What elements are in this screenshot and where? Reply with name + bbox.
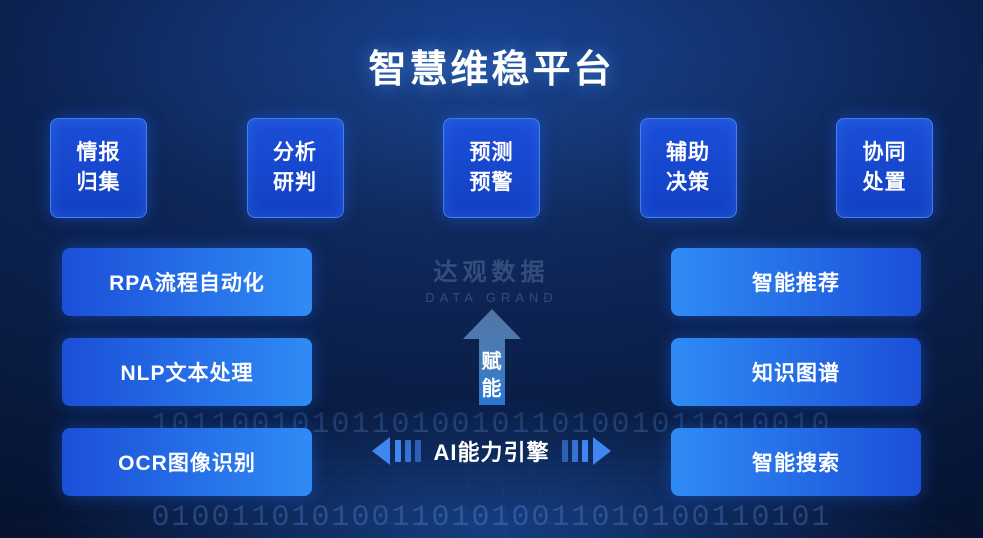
card-line-1: 协同 [863, 138, 907, 168]
card-line-1: 情报 [77, 138, 121, 168]
card-line-2: 研判 [273, 168, 317, 198]
empowerment-arrow: 赋 能 [455, 309, 529, 405]
capability-card-prediction-warning[interactable]: 预测 预警 [443, 118, 540, 218]
left-technology-column: RPA流程自动化 NLP文本处理 OCR图像识别 [62, 248, 312, 496]
ai-engine-row: AI能力引擎 [342, 435, 642, 467]
watermark-en: DATA GRAND [425, 290, 558, 305]
watermark: 达观数据 DATA GRAND [425, 252, 558, 305]
tech-pill-rpa[interactable]: RPA流程自动化 [62, 248, 312, 316]
arrow-right-icon [560, 437, 611, 465]
card-line-2: 归集 [77, 168, 121, 198]
capability-card-assisted-decision[interactable]: 辅助 决策 [640, 118, 737, 218]
capability-card-coordinated-disposal[interactable]: 协同 处置 [836, 118, 933, 218]
ai-engine-label: AI能力引擎 [423, 435, 559, 467]
app-pill-smart-recommendation[interactable]: 智能推荐 [671, 248, 921, 316]
card-line-1: 预测 [470, 138, 514, 168]
arrow-label-line-2: 能 [482, 376, 502, 403]
card-line-2: 处置 [863, 168, 907, 198]
arrow-label-line-1: 赋 [482, 349, 502, 376]
right-application-column: 智能推荐 知识图谱 智能搜索 [671, 248, 921, 496]
page-title: 智慧维稳平台 [0, 38, 983, 93]
arrow-left-icon [372, 437, 423, 465]
card-line-1: 辅助 [666, 138, 710, 168]
card-line-2: 决策 [666, 168, 710, 198]
tech-pill-nlp[interactable]: NLP文本处理 [62, 338, 312, 406]
app-pill-knowledge-graph[interactable]: 知识图谱 [671, 338, 921, 406]
tech-pill-ocr[interactable]: OCR图像识别 [62, 428, 312, 496]
app-pill-smart-search[interactable]: 智能搜索 [671, 428, 921, 496]
arrow-label: 赋 能 [482, 349, 502, 405]
center-engine-block: 达观数据 DATA GRAND 赋 能 [362, 248, 622, 467]
card-line-2: 预警 [470, 168, 514, 198]
capability-card-row: 情报 归集 分析 研判 预测 预警 辅助 决策 协同 处置 [50, 118, 933, 218]
infographic-canvas: 1011001010110100101101001011010010 01001… [0, 0, 983, 538]
capability-card-analysis-judgement[interactable]: 分析 研判 [247, 118, 344, 218]
capability-card-intelligence-collection[interactable]: 情报 归集 [50, 118, 147, 218]
card-line-1: 分析 [273, 138, 317, 168]
watermark-cn: 达观数据 [425, 252, 558, 287]
